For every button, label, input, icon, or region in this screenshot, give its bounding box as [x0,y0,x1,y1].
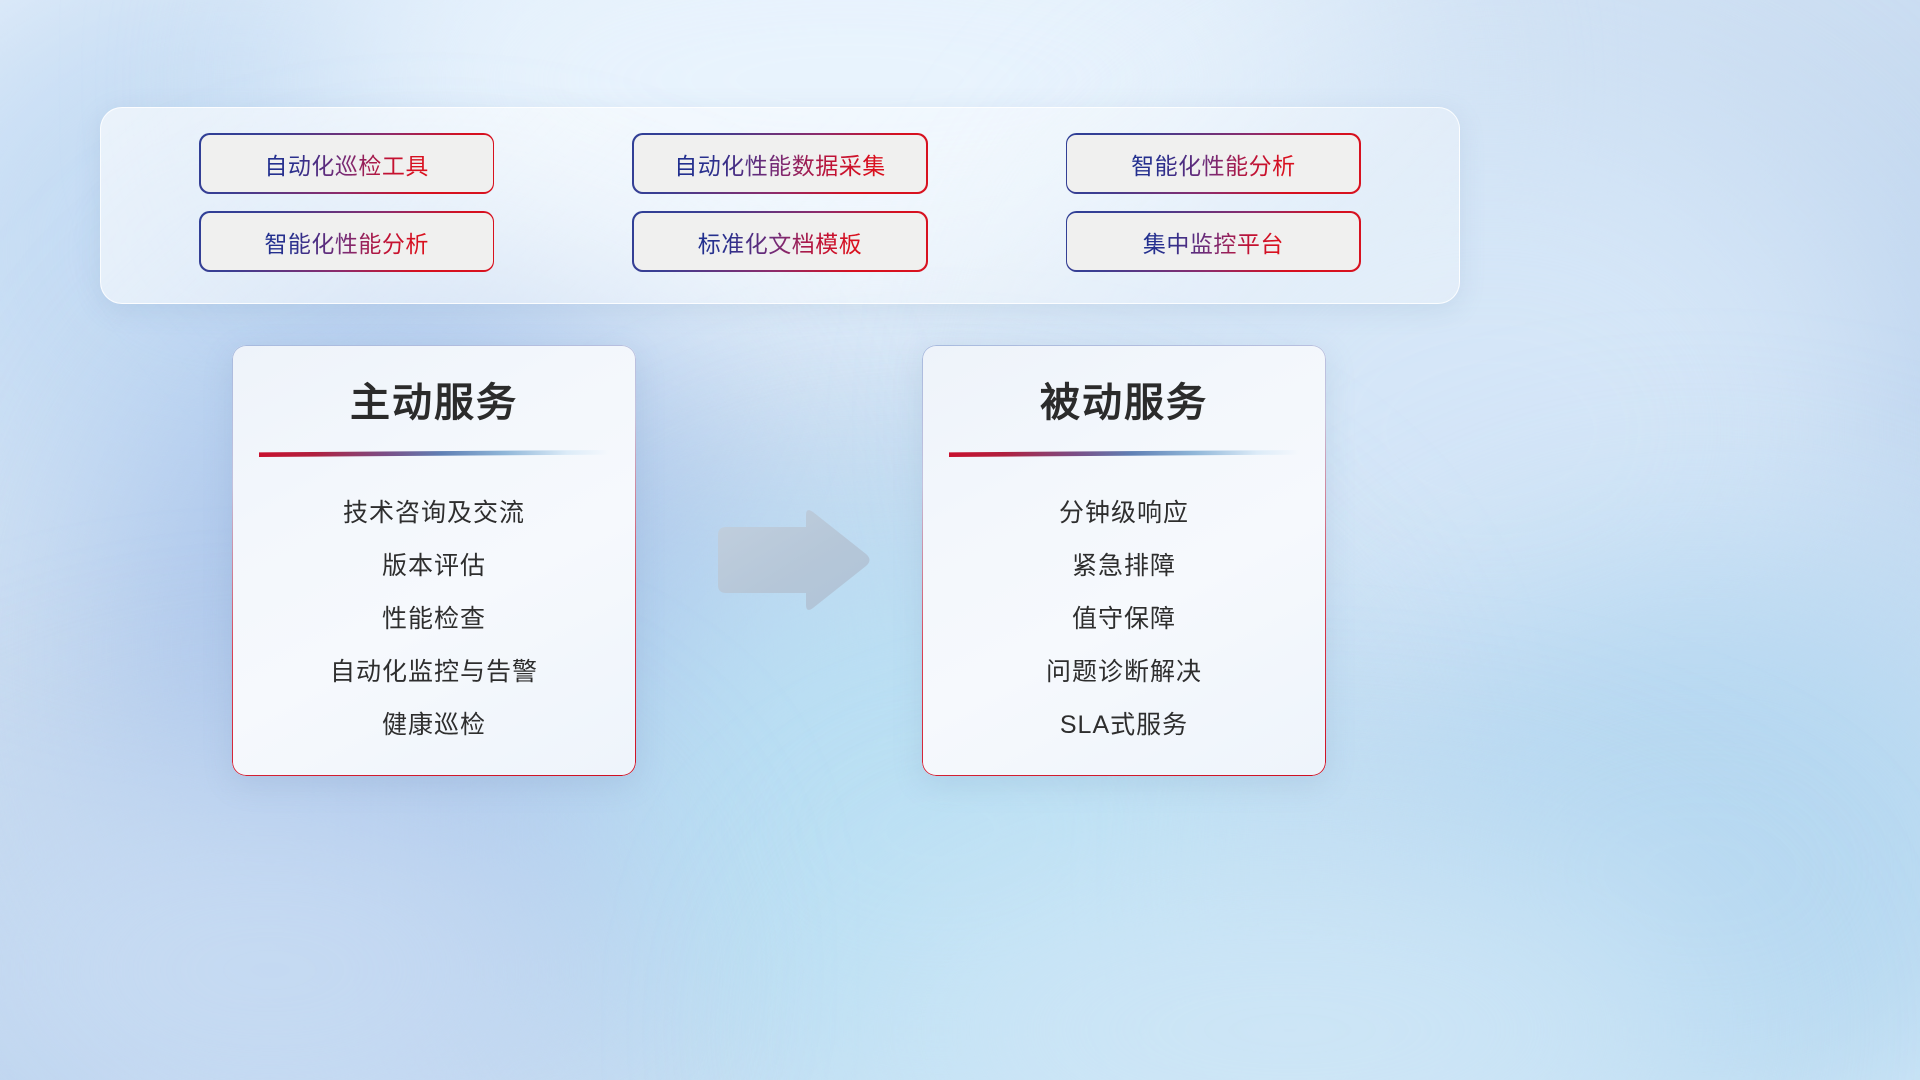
title-divider [259,450,609,457]
service-list-item[interactable]: 值守保障 [922,593,1326,646]
service-list-item[interactable]: 分钟级响应 [922,487,1326,540]
service-list-item[interactable]: 紧急排障 [922,540,1326,593]
capability-tag-label: 集中监控平台 [1143,225,1284,259]
capability-tag-label: 标准化文档模板 [698,225,863,259]
capability-tag-centralized-monitoring-platform[interactable]: 集中监控平台 [1067,213,1359,270]
capability-tag-label: 智能化性能分析 [264,225,429,259]
service-list-item[interactable]: SLA式服务 [922,699,1326,752]
arrow-right-icon [714,505,874,615]
capability-tags-panel: 自动化巡检工具 自动化性能数据采集 智能化性能分析 智能化性能分析 标准化文档模… [100,107,1460,304]
capability-tag-automated-inspection-tool[interactable]: 自动化巡检工具 [201,135,493,192]
service-list-item[interactable]: 版本评估 [232,540,636,593]
capability-tag-automated-performance-data-collection[interactable]: 自动化性能数据采集 [634,135,926,192]
service-list-item[interactable]: 自动化监控与告警 [232,646,636,699]
service-card-title: 被动服务 [922,370,1326,428]
capability-tag-label: 智能化性能分析 [1131,147,1296,181]
service-list-item[interactable]: 性能检查 [232,593,636,646]
service-list-item[interactable]: 问题诊断解决 [922,646,1326,699]
capability-tag-intelligent-performance-analysis-right[interactable]: 智能化性能分析 [1067,135,1359,192]
service-card-reactive: 被动服务 分钟级响应 紧急排障 值守保障 问题诊断解决 SLA式服务 [922,345,1326,776]
capability-tag-label: 自动化巡检工具 [264,147,429,181]
service-card-title: 主动服务 [232,370,636,428]
service-item-list: 技术咨询及交流 版本评估 性能检查 自动化监控与告警 健康巡检 [232,487,636,752]
capability-tags-grid: 自动化巡检工具 自动化性能数据采集 智能化性能分析 智能化性能分析 标准化文档模… [130,135,1430,270]
service-card-proactive: 主动服务 技术咨询及交流 版本评估 性能检查 自动化监控与告警 健康巡检 [232,345,636,776]
capability-tag-standardized-document-template[interactable]: 标准化文档模板 [634,213,926,270]
title-divider [949,450,1299,457]
service-list-item[interactable]: 健康巡检 [232,699,636,752]
capability-tag-intelligent-performance-analysis-left[interactable]: 智能化性能分析 [201,213,493,270]
service-list-item[interactable]: 技术咨询及交流 [232,487,636,540]
service-item-list: 分钟级响应 紧急排障 值守保障 问题诊断解决 SLA式服务 [922,487,1326,752]
capability-tag-label: 自动化性能数据采集 [674,147,886,181]
